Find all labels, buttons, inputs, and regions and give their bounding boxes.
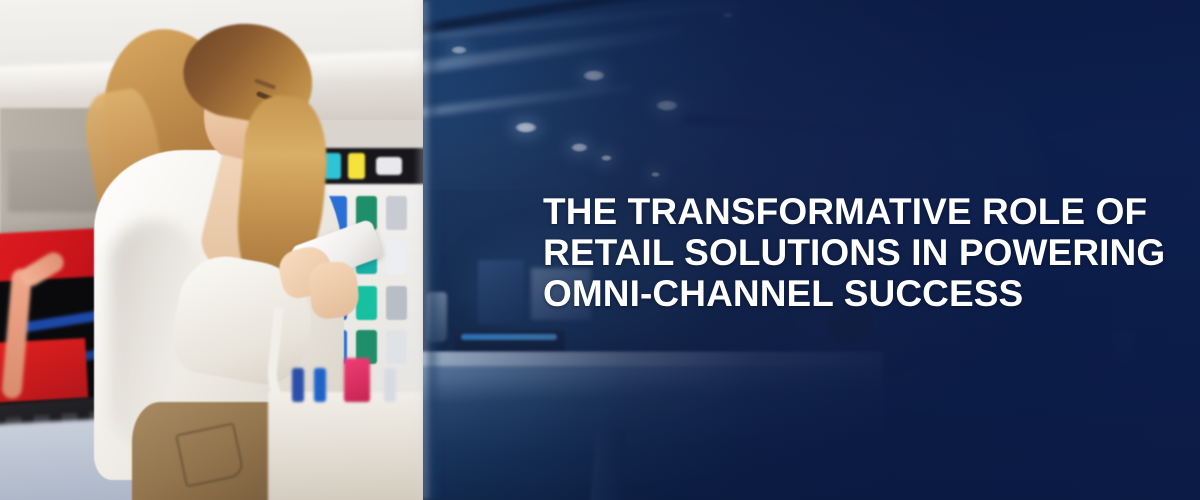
headline-line-3: OMNI-CHANNEL SUCCESS xyxy=(543,273,1163,314)
display-counter-front xyxy=(268,392,430,500)
wall-panel xyxy=(8,150,100,212)
page-title: THE TRANSFORMATIVE ROLE OF RETAIL SOLUTI… xyxy=(543,191,1163,314)
hero-banner: THE TRANSFORMATIVE ROLE OF RETAIL SOLUTI… xyxy=(0,0,1200,500)
right-hand xyxy=(307,260,361,321)
headline-line-2: RETAIL SOLUTIONS IN POWERING xyxy=(543,232,1163,273)
headline-line-1: THE TRANSFORMATIVE ROLE OF xyxy=(543,191,1163,232)
retail-store-photo-left xyxy=(0,0,430,500)
